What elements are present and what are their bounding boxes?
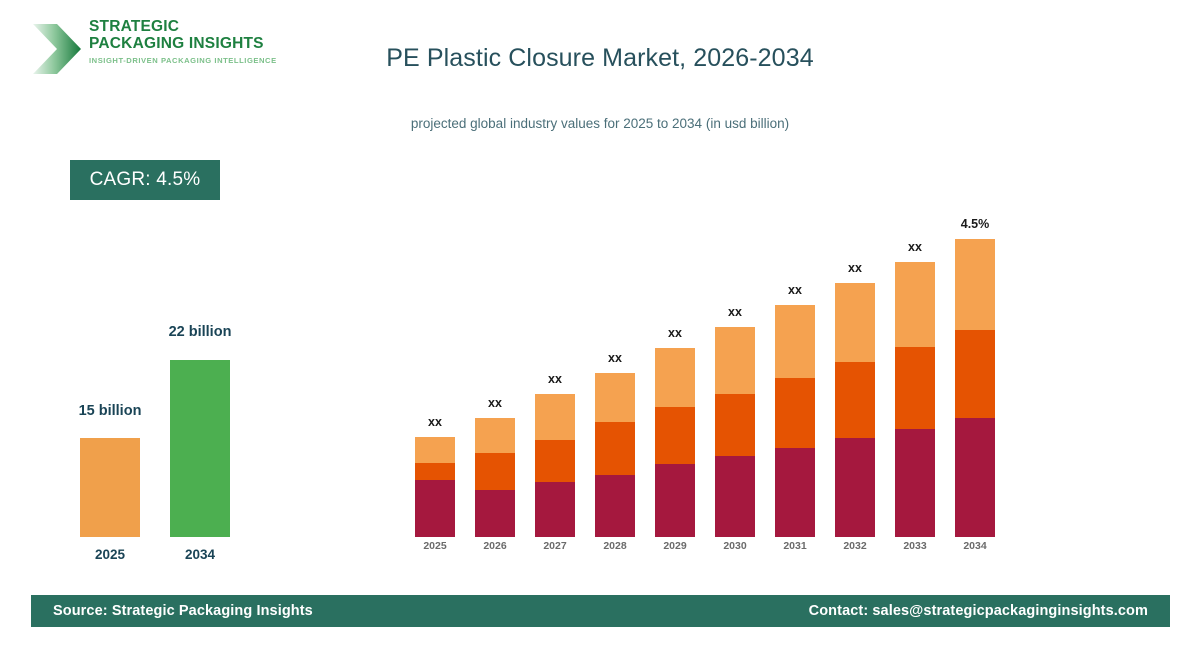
stack-segment-top-2030 bbox=[715, 327, 755, 394]
stack-segment-bottom-2032 bbox=[835, 438, 875, 537]
stack-segment-top-2026 bbox=[475, 418, 515, 453]
stack-segment-top-2027 bbox=[535, 394, 575, 440]
stacked-bar-2032 bbox=[835, 283, 875, 537]
stack-segment-top-2028 bbox=[595, 373, 635, 422]
stack-segment-middle-2029 bbox=[655, 407, 695, 464]
stack-value-label-2028: xx bbox=[575, 351, 655, 365]
infographic-canvas: STRATEGIC PACKAGING INSIGHTS INSIGHT-DRI… bbox=[0, 0, 1200, 650]
stack-value-label-2030: xx bbox=[695, 305, 775, 319]
stack-segment-top-2025 bbox=[415, 437, 455, 463]
stacked-bar-2029 bbox=[655, 348, 695, 537]
stack-segment-middle-2028 bbox=[595, 422, 635, 475]
stack-x-label-2034: 2034 bbox=[940, 540, 1010, 552]
footer-source: Source: Strategic Packaging Insights bbox=[53, 603, 313, 619]
stack-value-label-2026: xx bbox=[455, 396, 535, 410]
stack-segment-bottom-2028 bbox=[595, 475, 635, 537]
footer-contact: Contact: sales@strategicpackaginginsight… bbox=[809, 603, 1148, 619]
stack-segment-middle-2031 bbox=[775, 378, 815, 448]
stack-segment-middle-2026 bbox=[475, 453, 515, 490]
stack-segment-top-2031 bbox=[775, 305, 815, 378]
stack-value-label-2034: 4.5% bbox=[935, 217, 1015, 231]
stack-value-label-2031: xx bbox=[755, 283, 835, 297]
stacked-bar-2028 bbox=[595, 373, 635, 537]
stacked-bar-2026 bbox=[475, 418, 515, 537]
stacked-bar-2034 bbox=[955, 239, 995, 537]
stack-segment-bottom-2030 bbox=[715, 456, 755, 537]
stack-segment-bottom-2026 bbox=[475, 490, 515, 537]
forecast-stacked-bar-chart: xx2025xx2026xx2027xx2028xx2029xx2030xx20… bbox=[0, 0, 1200, 650]
stack-value-label-2029: xx bbox=[635, 326, 715, 340]
stack-segment-bottom-2034 bbox=[955, 418, 995, 537]
stack-value-label-2033: xx bbox=[875, 240, 955, 254]
stack-segment-top-2029 bbox=[655, 348, 695, 407]
stacked-bar-2030 bbox=[715, 327, 755, 537]
stack-segment-middle-2034 bbox=[955, 330, 995, 418]
stack-segment-middle-2025 bbox=[415, 463, 455, 480]
stack-segment-middle-2032 bbox=[835, 362, 875, 438]
stack-segment-middle-2030 bbox=[715, 394, 755, 456]
stack-segment-top-2034 bbox=[955, 239, 995, 330]
stack-segment-bottom-2029 bbox=[655, 464, 695, 537]
stacked-bar-2025 bbox=[415, 437, 455, 537]
stack-segment-middle-2027 bbox=[535, 440, 575, 482]
stack-segment-bottom-2027 bbox=[535, 482, 575, 537]
stack-segment-top-2033 bbox=[895, 262, 935, 347]
stack-segment-top-2032 bbox=[835, 283, 875, 362]
footer-bar: Source: Strategic Packaging Insights Con… bbox=[31, 595, 1170, 627]
stack-value-label-2025: xx bbox=[395, 415, 475, 429]
stack-segment-middle-2033 bbox=[895, 347, 935, 429]
stack-value-label-2032: xx bbox=[815, 261, 895, 275]
stack-value-label-2027: xx bbox=[515, 372, 595, 386]
stack-segment-bottom-2033 bbox=[895, 429, 935, 537]
stack-segment-bottom-2025 bbox=[415, 480, 455, 537]
stack-segment-bottom-2031 bbox=[775, 448, 815, 537]
stacked-bar-2033 bbox=[895, 262, 935, 537]
stacked-bar-2027 bbox=[535, 394, 575, 537]
stacked-bar-2031 bbox=[775, 305, 815, 537]
